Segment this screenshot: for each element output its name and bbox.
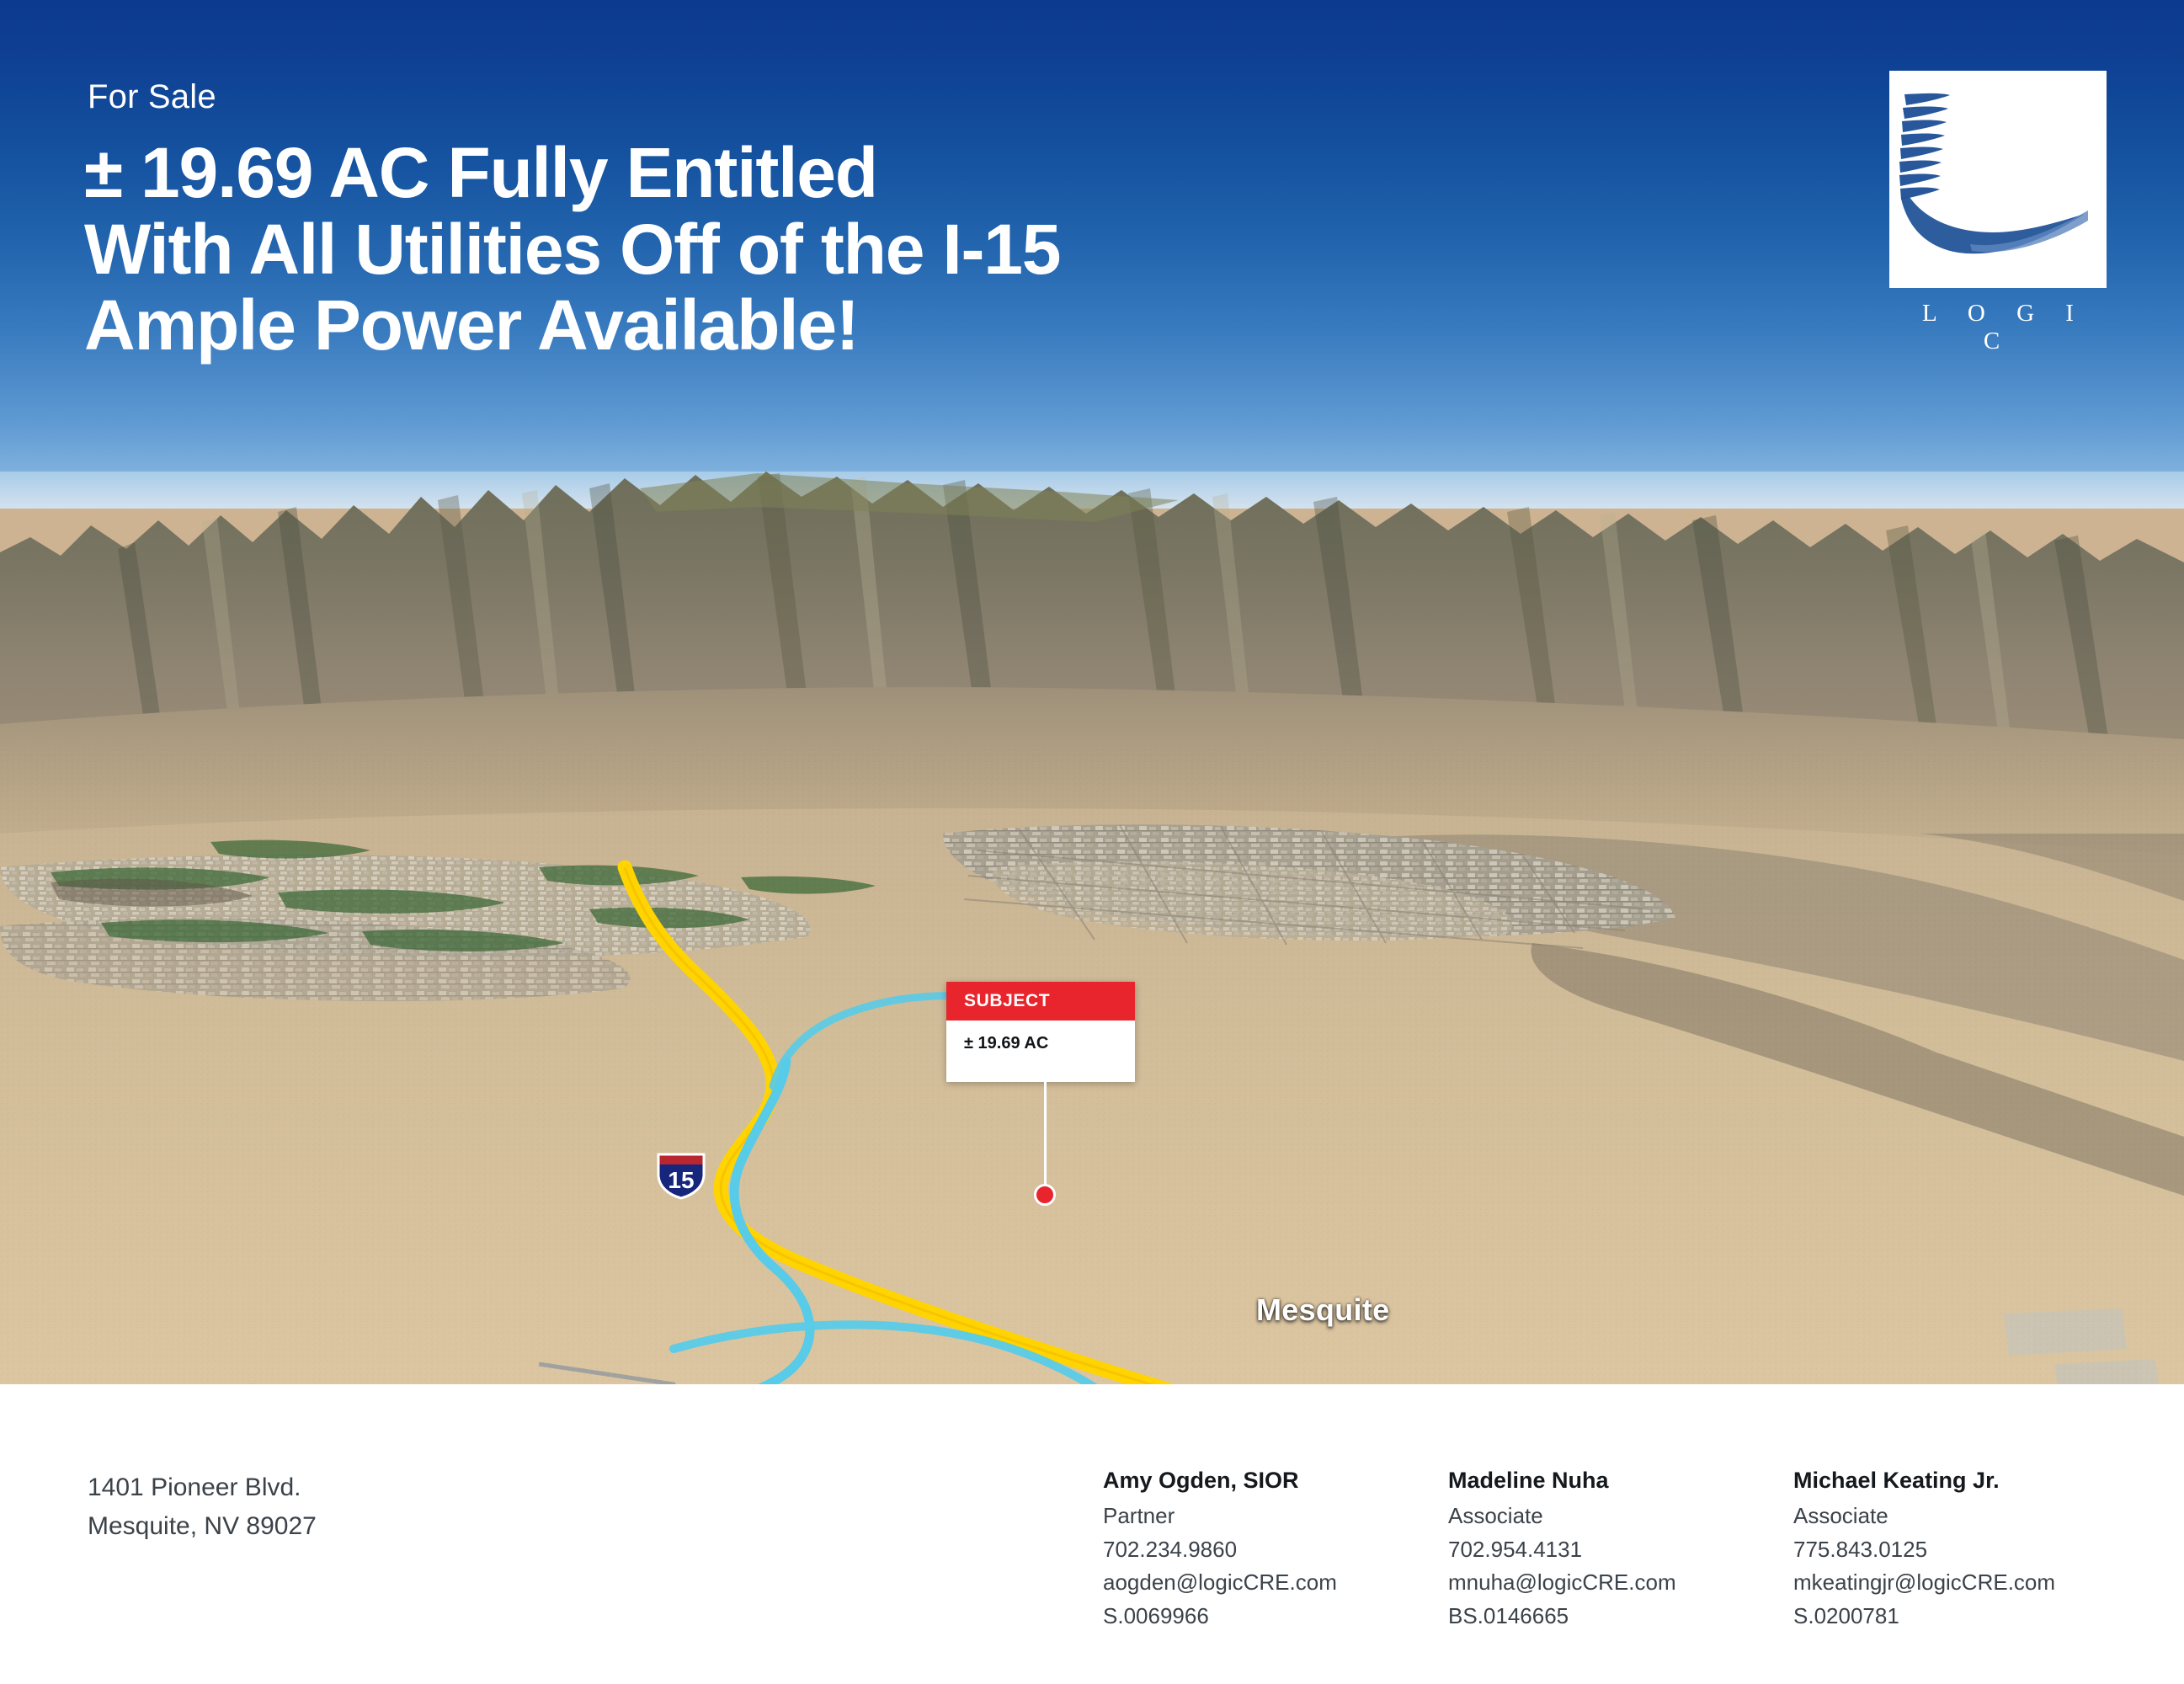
brand-logo: L O G I C	[1889, 71, 2107, 355]
page-title: ± 19.69 AC Fully Entitled With All Utili…	[84, 135, 1347, 364]
contact-name: Madeline Nuha	[1448, 1463, 1793, 1498]
contact-name: Michael Keating Jr.	[1793, 1463, 2139, 1498]
callout-leader-line	[1044, 1066, 1047, 1194]
headline-line-3: Ample Power Available!	[84, 287, 1347, 364]
for-sale-flyer: For Sale ± 19.69 AC Fully Entitled With …	[0, 0, 2184, 1684]
flyer-footer: 1401 Pioneer Blvd. Mesquite, NV 89027 Am…	[0, 1384, 2184, 1684]
aerial-map[interactable]: Mesquite Falcon Ridge Pkwy. I-15 Freeway…	[0, 472, 2184, 1384]
brand-wordmark: L O G I C	[1889, 300, 2107, 355]
contact-phone[interactable]: 702.954.4131	[1448, 1533, 1793, 1567]
address-line-1: 1401 Pioneer Blvd.	[88, 1468, 317, 1507]
contact-card: Madeline Nuha Associate 702.954.4131 mnu…	[1448, 1463, 1793, 1633]
contact-email[interactable]: aogden@logicCRE.com	[1103, 1566, 1448, 1600]
contact-license: S.0069966	[1103, 1600, 1448, 1633]
svg-text:15: 15	[668, 1167, 694, 1193]
contact-phone[interactable]: 702.234.9860	[1103, 1533, 1448, 1567]
contact-phone[interactable]: 775.843.0125	[1793, 1533, 2139, 1567]
subject-callout-title: SUBJECT	[946, 982, 1135, 1021]
contact-email[interactable]: mkeatingjr@logicCRE.com	[1793, 1566, 2139, 1600]
contact-name: Amy Ogden, SIOR	[1103, 1463, 1448, 1498]
contact-card: Michael Keating Jr. Associate 775.843.01…	[1793, 1463, 2139, 1633]
aerial-imagery	[0, 472, 2184, 1384]
headline-line-2: With All Utilities Off of the I-15	[84, 211, 1347, 288]
contact-title: Associate	[1793, 1500, 2139, 1533]
contact-license: BS.0146665	[1448, 1600, 1793, 1633]
interstate-15-shield-icon: 15	[655, 1149, 707, 1200]
eyebrow-for-sale: For Sale	[88, 78, 216, 116]
flyer-header: For Sale ± 19.69 AC Fully Entitled With …	[0, 0, 2184, 539]
site-marker-dot[interactable]	[1034, 1184, 1056, 1206]
contact-title: Associate	[1448, 1500, 1793, 1533]
address-line-2: Mesquite, NV 89027	[88, 1507, 317, 1546]
logic-swoosh-logo-icon	[1889, 71, 2107, 288]
contact-card: Amy Ogden, SIOR Partner 702.234.9860 aog…	[1103, 1463, 1448, 1633]
contact-list: Amy Ogden, SIOR Partner 702.234.9860 aog…	[1103, 1463, 2139, 1633]
contact-license: S.0200781	[1793, 1600, 2139, 1633]
subject-callout-acreage: ± 19.69 AC	[946, 1021, 1135, 1082]
property-address: 1401 Pioneer Blvd. Mesquite, NV 89027	[88, 1468, 317, 1546]
contact-email[interactable]: mnuha@logicCRE.com	[1448, 1566, 1793, 1600]
contact-title: Partner	[1103, 1500, 1448, 1533]
subject-callout[interactable]: SUBJECT ± 19.69 AC	[946, 982, 1135, 1082]
headline-line-1: ± 19.69 AC Fully Entitled	[84, 135, 1347, 211]
